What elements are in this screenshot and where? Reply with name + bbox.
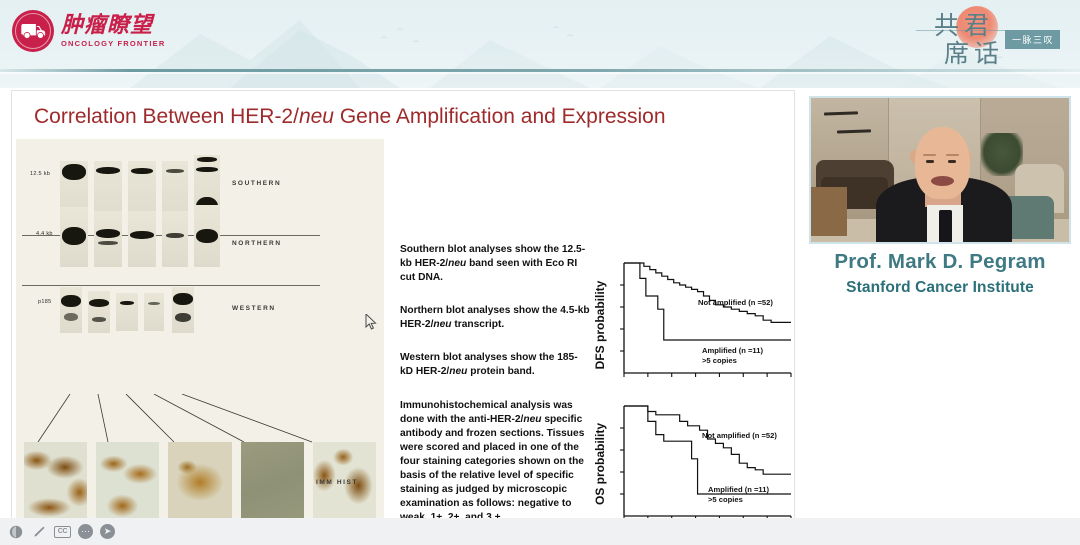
dfs-survival-chart: Not amplified (n =52)Amplified (n =11)>5… — [590, 253, 795, 391]
presenter-video-feed[interactable] — [809, 96, 1071, 244]
next-arrow-icon[interactable]: ➤ — [100, 524, 115, 539]
svg-text:>5 copies: >5 copies — [708, 495, 743, 504]
video-background — [811, 98, 1069, 242]
text-italic: neu — [433, 319, 451, 330]
text-post: transcript. — [452, 319, 505, 330]
svg-text:Not amplified (n =52): Not amplified (n =52) — [698, 298, 773, 307]
ihc-panel — [96, 442, 159, 526]
svg-text:Amplified (n =11): Amplified (n =11) — [708, 485, 769, 494]
text-block: Northern blot analyses show the 4.5-kb H… — [400, 304, 590, 332]
player-toolbar: CC ⋯ ➤ — [0, 518, 1080, 545]
ihc-panel — [24, 442, 87, 526]
explanatory-text-column: Southern blot analyses show the 12.5-kb … — [400, 243, 590, 544]
slide-title-italic: neu — [299, 105, 334, 128]
text-block: Southern blot analyses show the 12.5-kb … — [400, 243, 590, 285]
slide-content: Correlation Between HER-2/neu Gene Ampli… — [11, 90, 795, 536]
slide-title-post: Gene Amplification and Expression — [334, 105, 666, 128]
header-divider-highlight — [0, 72, 1080, 74]
text-italic: neu — [523, 414, 541, 425]
ihc-panel — [168, 442, 231, 526]
text-block: Western blot analyses show the 185-kD HE… — [400, 351, 590, 379]
brand-line-2: 席话 — [944, 34, 1004, 70]
svg-text:Amplified (n =11): Amplified (n =11) — [702, 346, 763, 355]
imm-hist-label: IMM HIST — [316, 479, 358, 486]
text-post: protein band. — [467, 366, 534, 377]
speaker-name: Prof. Mark D. Pegram — [809, 250, 1071, 274]
text-italic: neu — [449, 366, 467, 377]
slide-title-pre: Correlation Between HER-2/ — [34, 105, 299, 128]
pen-icon[interactable] — [31, 524, 47, 540]
blot-divider-2 — [22, 285, 320, 286]
western-kd-label: p185 — [38, 299, 51, 305]
text-post: specific antibody and frozen sections. T… — [400, 414, 584, 524]
program-brand: 共君 席话 一脉三叹 — [876, 4, 1066, 66]
northern-blot-label: NORTHERN — [232, 240, 282, 247]
text-block: Immunohistochemical analysis was done wi… — [400, 399, 590, 526]
western-blot-label: WESTERN — [232, 305, 276, 312]
blot-figure: 12.5 kb SOUTHERN 4.4 kb NORTHERN — [16, 139, 384, 528]
speaker-affiliation: Stanford Cancer Institute — [809, 279, 1071, 297]
svg-text:OS probability: OS probability — [593, 423, 607, 505]
header-band: ⛟ 肿瘤瞭望 ONCOLOGY FRONTIER 共君 席话 一脉三叹 — [0, 0, 1080, 88]
svg-text:DFS probability: DFS probability — [593, 280, 607, 369]
presentation-viewer: ⛟ 肿瘤瞭望 ONCOLOGY FRONTIER 共君 席话 一脉三叹 Corr… — [0, 0, 1080, 545]
southern-blot-label: SOUTHERN — [232, 180, 281, 187]
crab-emblem-icon: ⛟ — [12, 10, 54, 52]
slide-title: Correlation Between HER-2/neu Gene Ampli… — [34, 105, 666, 129]
pointer-icon[interactable] — [8, 524, 24, 540]
ihc-panel — [241, 442, 304, 526]
brand-badge: 一脉三叹 — [1005, 30, 1060, 49]
brand-underline — [916, 30, 1008, 31]
northern-kb-label: 4.4 kb — [36, 231, 53, 237]
logo-english-name: ONCOLOGY FRONTIER — [61, 40, 165, 48]
more-options-icon[interactable]: ⋯ — [78, 524, 93, 539]
svg-text:>5 copies: >5 copies — [702, 356, 737, 365]
southern-kb-label: 12.5 kb — [30, 171, 50, 177]
speaker-info: Prof. Mark D. Pegram Stanford Cancer Ins… — [809, 250, 1071, 297]
closed-caption-icon[interactable]: CC — [54, 526, 71, 538]
text-italic: neu — [448, 258, 466, 269]
oncology-frontier-logo: ⛟ 肿瘤瞭望 ONCOLOGY FRONTIER — [12, 10, 165, 52]
logo-chinese-name: 肿瘤瞭望 — [61, 15, 165, 37]
svg-text:Not amplified (n =52): Not amplified (n =52) — [702, 431, 777, 440]
